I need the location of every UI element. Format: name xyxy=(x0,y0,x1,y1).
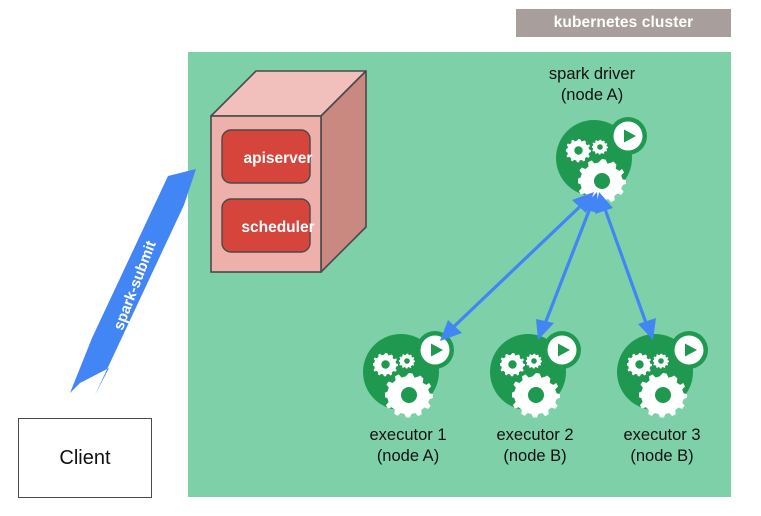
cluster-badge: kubernetes cluster xyxy=(516,9,731,37)
executor-1-caption-node: (node A) xyxy=(336,446,480,467)
driver-caption: spark driver (node A) xyxy=(512,64,672,106)
executor-1-caption-name: executor 1 xyxy=(336,425,480,446)
executor-3-caption: executor 3 (node B) xyxy=(590,425,734,467)
client-box: Client xyxy=(18,418,152,498)
cluster-badge-label: kubernetes cluster xyxy=(554,14,694,32)
driver-caption-name: spark driver xyxy=(512,64,672,85)
client-label: Client xyxy=(59,447,110,470)
diagram-canvas: kubernetes cluster apiserver scheduler s… xyxy=(0,0,761,516)
driver-caption-node: (node A) xyxy=(512,85,672,106)
apiserver-label: apiserver xyxy=(221,150,335,168)
executor-3-caption-node: (node B) xyxy=(590,446,734,467)
scheduler-label: scheduler xyxy=(221,219,335,237)
executor-2-caption-node: (node B) xyxy=(463,446,607,467)
control-plane-cube xyxy=(211,71,366,272)
executor-3-caption-name: executor 3 xyxy=(590,425,734,446)
executor-1-caption: executor 1 (node A) xyxy=(336,425,480,467)
executor-2-caption-name: executor 2 xyxy=(463,425,607,446)
executor-2-caption: executor 2 (node B) xyxy=(463,425,607,467)
